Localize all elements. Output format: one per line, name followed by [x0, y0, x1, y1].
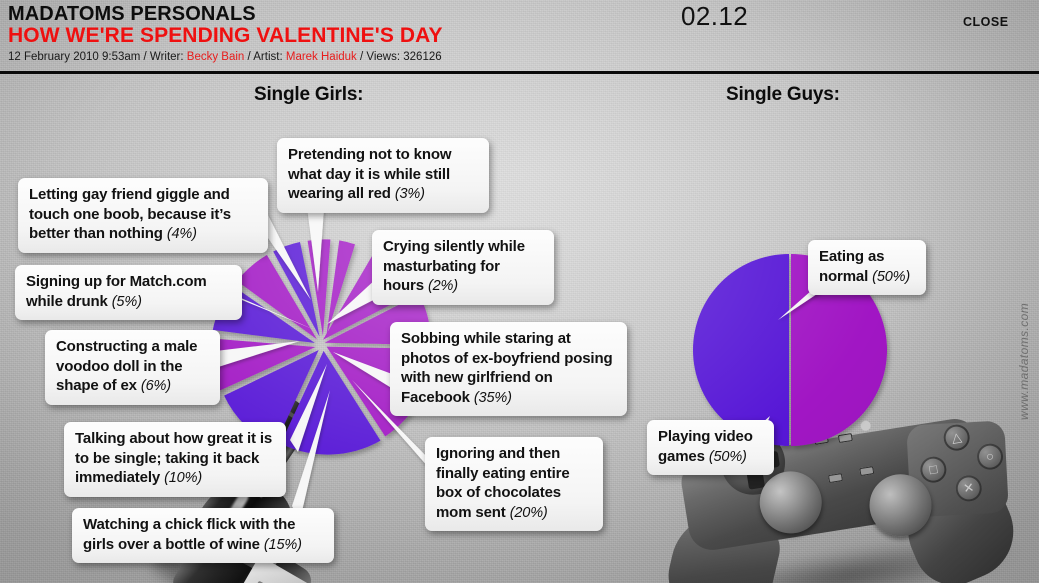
slice-pretending-red: [308, 239, 331, 335]
callout-text: Pretending not to know what day it is wh…: [288, 146, 451, 202]
controller-button-square: □: [919, 455, 949, 485]
callout-talking-single[interactable]: Talking about how great it is to be sing…: [64, 422, 286, 497]
header-divider-rule: [0, 71, 1039, 74]
close-button[interactable]: CLOSE: [963, 15, 1009, 29]
site-watermark: www.madatoms.com: [1017, 303, 1031, 420]
byline-artist-link[interactable]: Marek Haiduk: [286, 51, 357, 63]
date-badge: 02.12: [681, 1, 748, 32]
callout-text: Letting gay friend giggle and touch one …: [29, 186, 231, 242]
callout-percent: (6%): [141, 378, 171, 394]
controller-shadow: [676, 523, 1020, 583]
controller-left-stick: [755, 467, 826, 538]
callout-gay-friend[interactable]: Letting gay friend giggle and touch one …: [18, 178, 268, 253]
byline-writer-link[interactable]: Becky Bain: [187, 51, 245, 63]
callout-percent: (3%): [395, 186, 425, 202]
callout-crying-silently[interactable]: Crying silently while masturbating for h…: [372, 230, 554, 305]
controller-button-cross: ✕: [954, 473, 984, 503]
callout-chick-flick[interactable]: Watching a chick flick with the girls ov…: [72, 508, 334, 563]
page-header: MADATOMS PERSONALS HOW WE'RE SPENDING VA…: [0, 0, 1039, 72]
callout-percent: (50%): [872, 269, 910, 285]
controller-left-grip: [661, 504, 786, 583]
callout-percent: (4%): [167, 226, 197, 242]
controller-right-stick: [865, 470, 936, 541]
callout-chocolates[interactable]: Ignoring and then finally eating entire …: [425, 437, 603, 531]
controller-button-circle: ○: [975, 442, 1005, 472]
callout-text: Constructing a male voodoo doll in the s…: [56, 338, 197, 394]
slice-playing-video-games: [693, 254, 789, 446]
callout-playing-video-games[interactable]: Playing video games (50%): [647, 420, 774, 475]
callout-percent: (50%): [709, 449, 747, 465]
controller-analog-button: [828, 473, 843, 483]
callout-match-com[interactable]: Signing up for Match.com while drunk (5%…: [15, 265, 242, 320]
callout-voodoo-doll[interactable]: Constructing a male voodoo doll in the s…: [45, 330, 220, 405]
callout-percent: (35%): [474, 390, 512, 406]
callout-percent: (15%): [264, 537, 302, 553]
callout-sobbing-facebook[interactable]: Sobbing while staring at photos of ex-bo…: [390, 322, 627, 416]
callout-percent: (10%): [164, 470, 202, 486]
infographic-stage: △ ○ □ ✕: [0, 0, 1039, 583]
byline-views: / Views: 326126: [357, 51, 442, 63]
controller-face-panel: [906, 420, 1009, 517]
callout-text: Ignoring and then finally eating entire …: [436, 445, 570, 521]
controller-button-triangle: △: [942, 423, 972, 453]
section-title-single-guys: Single Guys:: [726, 84, 840, 106]
callout-percent: (5%): [112, 294, 142, 310]
site-brand: MADATOMS PERSONALS: [8, 4, 256, 25]
callout-eating-as-normal[interactable]: Eating as normal (50%): [808, 240, 926, 295]
byline-artist-label: / Artist:: [244, 51, 286, 63]
page-title: HOW WE'RE SPENDING VALENTINE'S DAY: [8, 25, 443, 47]
byline: 12 February 2010 9:53am / Writer: Becky …: [8, 50, 442, 64]
callout-percent: (2%): [428, 278, 458, 294]
section-title-single-girls: Single Girls:: [254, 84, 363, 106]
controller-right-grip: [892, 461, 1028, 583]
callout-percent: (20%): [510, 505, 548, 521]
callout-pretending-red[interactable]: Pretending not to know what day it is wh…: [277, 138, 489, 213]
controller-mode-button: [859, 466, 874, 476]
byline-date: 12 February 2010 9:53am: [8, 51, 140, 63]
byline-writer-label: / Writer:: [140, 51, 186, 63]
